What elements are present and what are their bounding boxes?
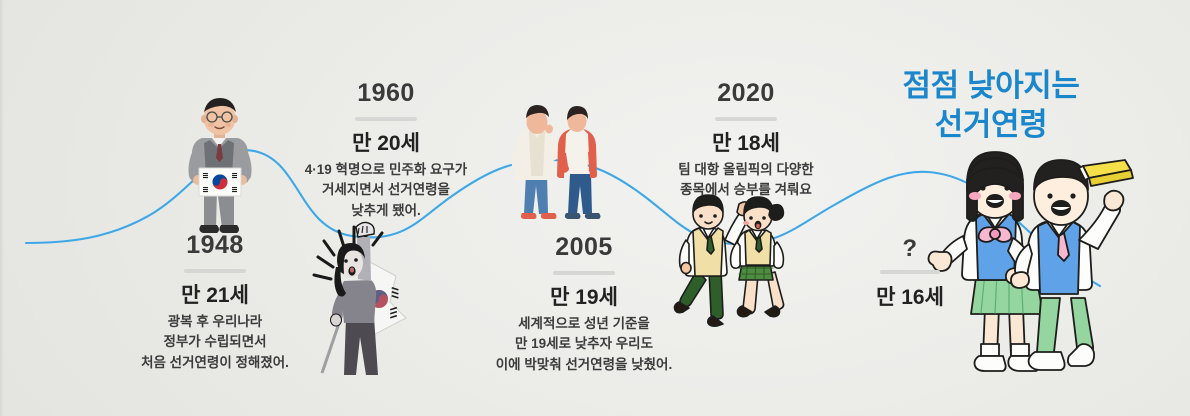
description-line: 광복 후 우리나라 — [110, 312, 320, 333]
age-label: 만 19세 — [468, 285, 700, 310]
description-line: 처음 선거연령이 정해졌어. — [110, 353, 320, 374]
year-label: 2020 — [638, 80, 854, 108]
age-label: 만 21세 — [110, 283, 320, 308]
title-line-1: 점점 낮아지는 — [862, 66, 1120, 105]
infographic-canvas: 1948 만 21세 광복 후 우리나라 정부가 수립되면서 처음 선거연령이 … — [0, 0, 1190, 416]
description-line: 4·19 혁명으로 민주화 요구가 — [276, 160, 496, 181]
year-label: 2005 — [468, 234, 700, 262]
timeline-entry-2005: 2005 만 19세 세계적으로 성년 기준을 만 19세로 낮추자 우리도 이… — [468, 234, 700, 375]
entry-divider — [880, 270, 940, 274]
year-label: ? — [845, 236, 975, 262]
entry-description: 세계적으로 성년 기준을 만 19세로 낮추자 우리도 이에 박맞춰 선거연령을… — [468, 314, 700, 376]
entry-divider — [715, 117, 777, 121]
entry-divider — [553, 271, 615, 275]
age-label: 만 18세 — [638, 131, 854, 156]
description-line: 종목에서 승부를 겨뤄요 — [638, 180, 854, 201]
timeline-entry-1948: 1948 만 21세 광복 후 우리나라 정부가 수립되면서 처음 선거연령이 … — [110, 232, 320, 373]
page-title: 점점 낮아지는 선거연령 — [862, 66, 1120, 144]
protester-with-flag-illustration — [306, 205, 418, 380]
young-adult-couple-illustration — [492, 96, 618, 232]
description-line: 세계적으로 성년 기준을 — [468, 314, 700, 335]
entry-divider — [355, 117, 417, 121]
entry-description: 팀 대항 올림픽의 다양한 종목에서 승부를 겨뤄요 — [638, 160, 854, 201]
description-line: 팀 대항 올림픽의 다양한 — [638, 160, 854, 181]
timeline-entry-future: ? 만 16세 — [845, 236, 975, 311]
description-line: 낮추게 됐어. — [276, 201, 496, 222]
title-line-2: 선거연령 — [862, 105, 1120, 144]
timeline-entry-2020: 2020 만 18세 팀 대항 올림픽의 다양한 종목에서 승부를 겨뤄요 — [638, 80, 854, 201]
description-line: 정부가 수립되면서 — [110, 332, 320, 353]
timeline-entry-1960: 1960 만 20세 4·19 혁명으로 민주화 요구가 거세지면서 선거연령을… — [276, 80, 496, 221]
man-holding-taegukgi-illustration — [168, 92, 272, 242]
description-line: 만 19세로 낮추자 우리도 — [468, 334, 700, 355]
age-label: 만 16세 — [845, 285, 975, 310]
age-label: 만 20세 — [276, 131, 496, 156]
entry-description: 광복 후 우리나라 정부가 수립되면서 처음 선거연령이 정해졌어. — [110, 312, 320, 374]
entry-description: 4·19 혁명으로 민주화 요구가 거세지면서 선거연령을 낮추게 됐어. — [276, 160, 496, 222]
description-line: 이에 박맞춰 선거연령을 낮췄어. — [468, 355, 700, 376]
entry-divider — [184, 269, 246, 273]
year-label: 1960 — [276, 80, 496, 108]
year-label: 1948 — [110, 232, 320, 260]
description-line: 거세지면서 선거연령을 — [276, 180, 496, 201]
